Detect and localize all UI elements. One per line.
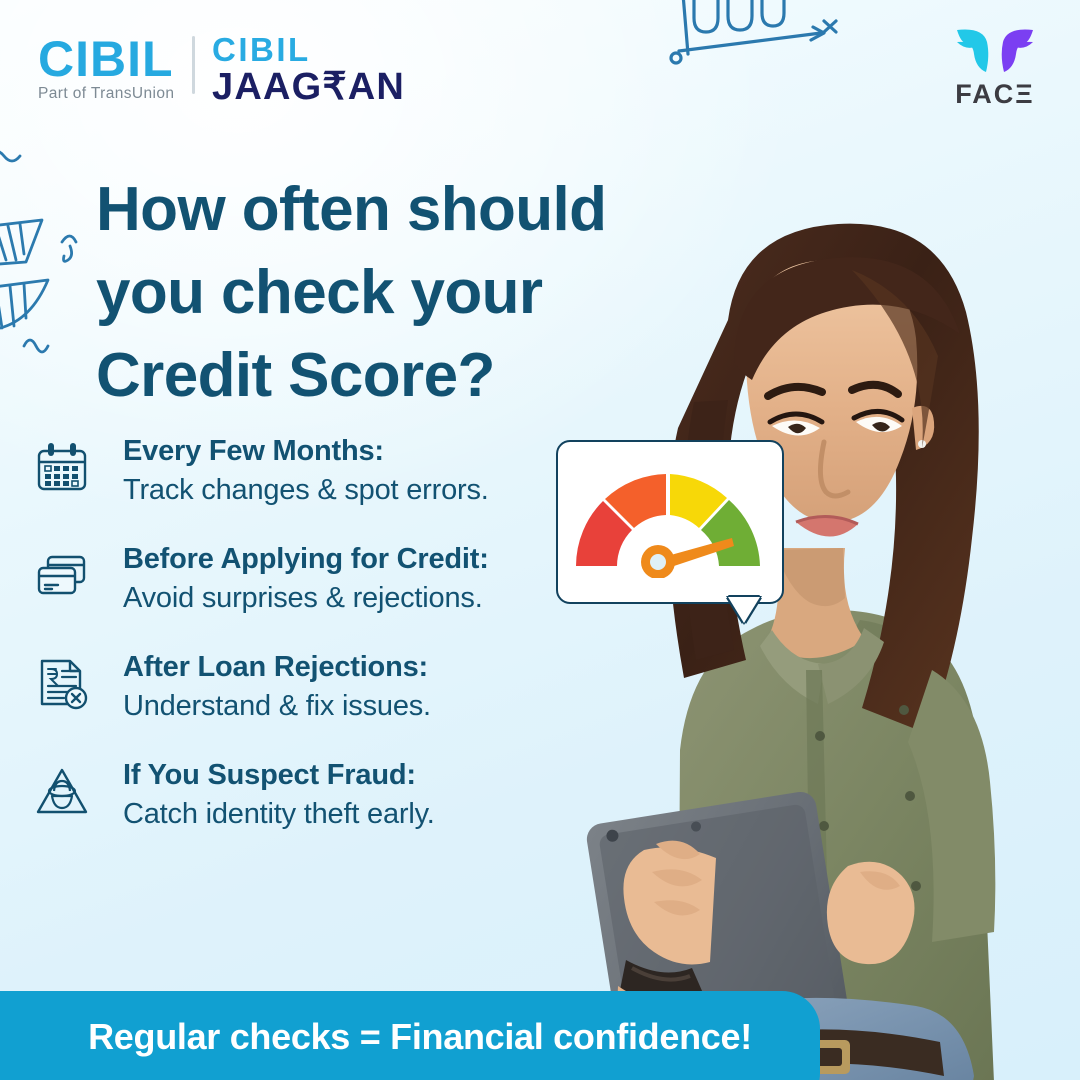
list-item: If You Suspect Fraud: Catch identity the… — [28, 758, 568, 866]
cibil-logo: CIBIL Part of TransUnion — [38, 34, 174, 103]
list-item: After Loan Rejections: Understand & fix … — [28, 650, 568, 758]
bullet-list: Every Few Months: Track changes & spot e… — [28, 434, 568, 866]
jaagran-logo-line1: CIBIL — [212, 33, 405, 66]
face-logo: FACΞ — [940, 24, 1050, 110]
list-item-description: Understand & fix issues. — [123, 686, 573, 726]
rejected-document-icon — [34, 656, 90, 712]
credit-cards-icon — [34, 548, 90, 604]
face-logo-word: FACΞ — [940, 79, 1050, 110]
cibil-logo-tagline: Part of TransUnion — [38, 85, 174, 103]
page-title: How often should you check your Credit S… — [96, 168, 716, 417]
banner-message: Regular checks = Financial confidence! — [40, 1016, 800, 1058]
speech-bubble-tail — [728, 597, 760, 623]
logo-divider — [192, 36, 195, 94]
list-item-title: After Loan Rejections: — [123, 648, 573, 686]
cibil-logo-word: CIBIL — [38, 34, 174, 84]
headline-line-3: Credit Score? — [96, 334, 716, 417]
cibil-jaagran-logo: CIBIL JAAG₹AN — [212, 33, 405, 106]
list-item-title: Every Few Months: — [123, 432, 573, 470]
fraud-warning-icon — [34, 764, 90, 820]
credit-score-gauge — [570, 462, 766, 578]
credit-score-infographic-poster: CIBIL Part of TransUnion CIBIL JAAG₹AN F… — [0, 0, 1080, 1080]
header-logo-row: CIBIL Part of TransUnion CIBIL JAAG₹AN F… — [0, 0, 1080, 120]
list-item-text: After Loan Rejections: Understand & fix … — [123, 648, 573, 726]
list-item-text: Every Few Months: Track changes & spot e… — [123, 432, 573, 510]
list-item: Before Applying for Credit: Avoid surpri… — [28, 542, 568, 650]
headline-line-1: How often should — [96, 168, 716, 251]
headline-line-2: you check your — [96, 251, 716, 334]
list-item-text: Before Applying for Credit: Avoid surpri… — [123, 540, 573, 618]
list-item-title: If You Suspect Fraud: — [123, 756, 573, 794]
calendar-icon — [34, 440, 90, 496]
list-item: Every Few Months: Track changes & spot e… — [28, 434, 568, 542]
list-item-title: Before Applying for Credit: — [123, 540, 573, 578]
face-wings-icon — [949, 24, 1041, 76]
list-item-text: If You Suspect Fraud: Catch identity the… — [123, 756, 573, 834]
jaagran-logo-line2: JAAG₹AN — [212, 68, 405, 106]
list-item-description: Track changes & spot errors. — [123, 470, 573, 510]
list-item-description: Avoid surprises & rejections. — [123, 578, 573, 618]
list-item-description: Catch identity theft early. — [123, 794, 573, 834]
